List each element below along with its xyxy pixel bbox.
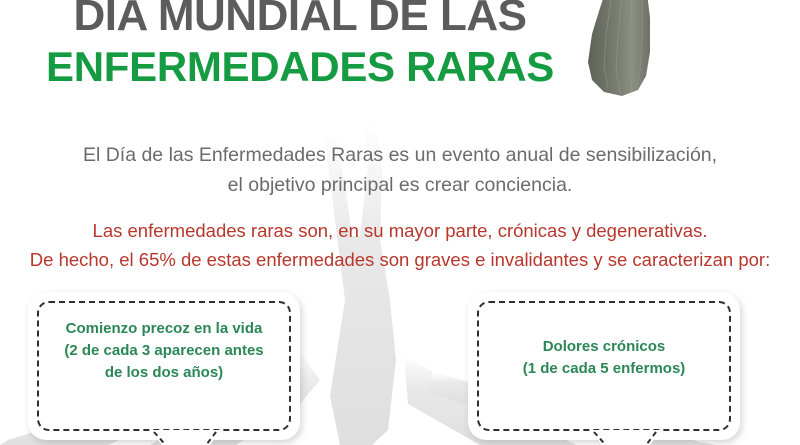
- callout-text-early-onset: Comienzo precoz en la vida (2 de cada 3 …: [28, 318, 300, 384]
- callout-line-2: (2 de cada 3 aparecen antes: [28, 340, 300, 362]
- intro-paragraph: El Día de las Enfermedades Raras es un e…: [0, 140, 800, 200]
- statement-line-1: Las enfermedades raras son, en su mayor …: [0, 216, 800, 245]
- intro-line-1: El Día de las Enfermedades Raras es un e…: [0, 140, 800, 170]
- callout-line-1: Comienzo precoz en la vida: [28, 318, 300, 340]
- intro-line-2: el objetivo principal es crear concienci…: [0, 170, 800, 200]
- callout-line-3: de los dos años): [28, 362, 300, 384]
- title-line-primary: DÍA MUNDIAL DE LAS: [0, 0, 600, 38]
- page-title: DÍA MUNDIAL DE LAS ENFERMEDADES RARAS: [0, 0, 600, 90]
- statement-line-2: De hecho, el 65% de estas enfermedades s…: [0, 245, 800, 274]
- callout-text-chronic-pain: Dolores crónicos (1 de cada 5 enfermos): [468, 336, 740, 380]
- title-line-secondary: ENFERMEDADES RARAS: [0, 44, 600, 90]
- callout-bubble-early-onset: Comienzo precoz en la vida (2 de cada 3 …: [28, 292, 300, 440]
- callout-bubble-chronic-pain: Dolores crónicos (1 de cada 5 enfermos): [468, 292, 740, 440]
- callout-line-1: Dolores crónicos: [468, 336, 740, 358]
- statement-paragraph: Las enfermedades raras son, en su mayor …: [0, 216, 800, 274]
- callout-line-2: (1 de cada 5 enfermos): [468, 358, 740, 380]
- infographic-poster: DÍA MUNDIAL DE LAS ENFERMEDADES RARAS El…: [0, 0, 800, 445]
